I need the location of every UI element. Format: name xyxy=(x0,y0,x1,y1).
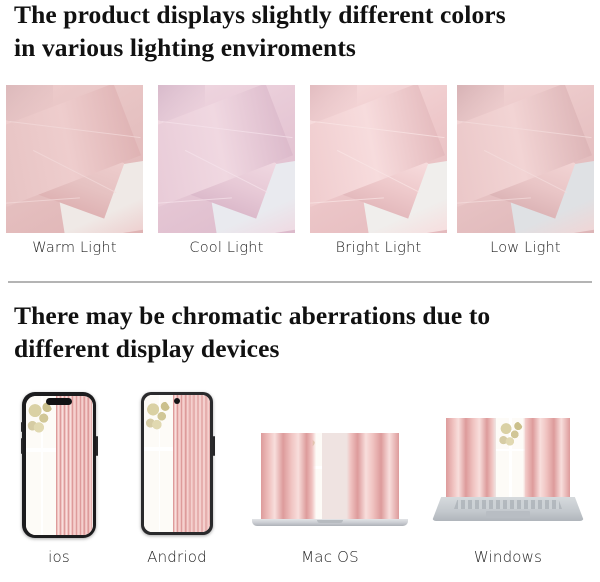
device-mockup-android: Andriod xyxy=(141,392,213,535)
phone-volume-button xyxy=(21,438,23,454)
curtain-drape xyxy=(450,422,566,493)
fabric-image-cool-light xyxy=(158,85,295,233)
punch-hole-camera-icon xyxy=(174,398,180,404)
android-frame xyxy=(141,392,213,535)
section-two-heading: There may be chromatic aberrations due t… xyxy=(14,299,584,365)
heading-line-1: The product displays slightly different … xyxy=(14,0,594,31)
windows-laptop-trackpad xyxy=(486,511,530,518)
device-mockup-ios: ios xyxy=(22,392,96,538)
device-mockup-row: ios Andriod xyxy=(0,392,600,582)
android-screen xyxy=(144,395,210,532)
curtain-artwork xyxy=(265,437,395,515)
windows-laptop-frame xyxy=(432,392,584,520)
windows-laptop-lid xyxy=(446,418,570,499)
lighting-swatch-row: Warm Light Cool Light xyxy=(0,85,600,265)
iphone-screen xyxy=(26,396,93,535)
swatch-label: Bright Light xyxy=(310,240,447,256)
curtain-drape xyxy=(173,395,210,532)
product-color-disclaimer-page: The product displays slightly different … xyxy=(0,0,600,582)
curtain-window-mullion xyxy=(26,448,58,452)
curtain-artwork xyxy=(144,395,210,532)
heading-line-1: There may be chromatic aberrations due t… xyxy=(14,299,584,332)
fabric-image-low-light xyxy=(457,85,594,233)
section-divider xyxy=(8,281,592,283)
device-mockup-windows: Windows xyxy=(432,392,584,520)
device-label: ios xyxy=(10,548,108,566)
device-label: Mac OS xyxy=(252,548,408,566)
curtain-drape xyxy=(265,437,395,515)
section-one-heading: The product displays slightly different … xyxy=(14,0,594,64)
phone-power-button xyxy=(96,436,98,456)
curtain-drape xyxy=(56,396,92,535)
device-label: Windows xyxy=(430,548,586,566)
macbook-screen xyxy=(265,437,395,515)
curtain-artwork xyxy=(450,422,566,493)
lighting-swatch-warm-light: Warm Light xyxy=(6,85,143,233)
windows-laptop-screen xyxy=(450,422,566,493)
windows-laptop-keyboard xyxy=(454,500,562,509)
curtain-foliage xyxy=(145,398,171,436)
phone-power-button xyxy=(213,436,215,456)
macbook-lid xyxy=(261,433,399,520)
curtain-artwork xyxy=(26,396,93,535)
lighting-swatch-low-light: Low Light xyxy=(457,85,594,233)
swatch-label: Warm Light xyxy=(6,240,143,256)
macbook-frame xyxy=(252,392,408,502)
dynamic-island-icon xyxy=(46,398,72,405)
curtain-window-mullion xyxy=(144,447,174,451)
fabric-image-warm-light xyxy=(6,85,143,233)
device-mockup-mac: Mac OS xyxy=(252,392,408,502)
phone-mute-button xyxy=(21,422,23,432)
macbook-lid-notch xyxy=(317,520,343,523)
heading-line-2: different display devices xyxy=(14,332,584,365)
iphone-frame xyxy=(22,392,96,538)
fabric-image-bright-light xyxy=(310,85,447,233)
lighting-swatch-bright-light: Bright Light xyxy=(310,85,447,233)
lighting-swatch-cool-light: Cool Light xyxy=(158,85,295,233)
heading-line-2: in various lighting enviroments xyxy=(14,31,594,64)
device-label: Andriod xyxy=(127,548,227,566)
swatch-label: Low Light xyxy=(457,240,594,256)
swatch-label: Cool Light xyxy=(158,240,295,256)
